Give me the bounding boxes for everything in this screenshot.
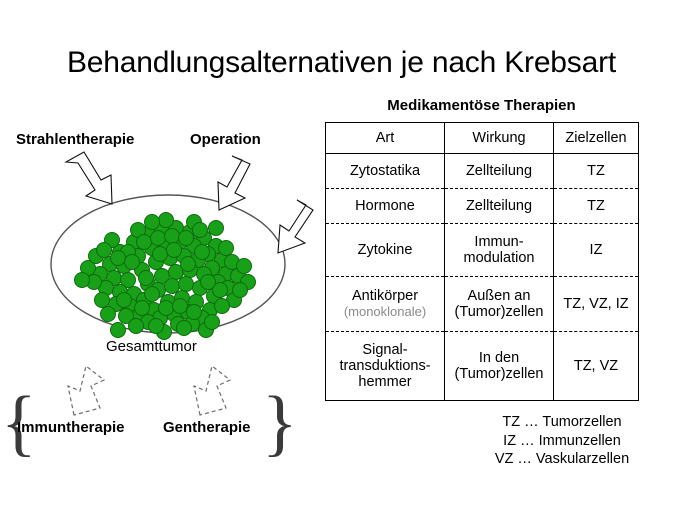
cell-art: Antikörper (monoklonale): [326, 277, 445, 332]
cell-zielzellen: TZ: [554, 154, 639, 189]
column-header-wirkung: Wirkung: [445, 123, 554, 154]
dashed-arrow-immuntherapie: [68, 366, 104, 415]
column-header-zielzellen: Zielzellen: [554, 123, 639, 154]
cell-zielzellen: TZ, VZ, IZ: [554, 277, 639, 332]
therapy-arrows: [0, 90, 320, 430]
cell-art: Zytokine: [326, 224, 445, 277]
table-row: Hormone Zellteilung TZ: [326, 189, 639, 224]
cell-wirkung-line2: (Tumor)zellen: [447, 366, 551, 382]
cell-wirkung: Zellteilung: [445, 189, 554, 224]
cell-art-main: Antikörper: [328, 288, 442, 304]
medication-therapy-table: Art Wirkung Zielzellen Zytostatika Zellt…: [325, 122, 639, 401]
cell-art-main: Signal- transduktions- hemmer: [328, 342, 442, 391]
cell-art: Hormone: [326, 189, 445, 224]
cell-wirkung-line1: Zellteilung: [447, 163, 551, 179]
cell-wirkung: Zellteilung: [445, 154, 554, 189]
cell-zielzellen: TZ: [554, 189, 639, 224]
cell-zielzellen: IZ: [554, 224, 639, 277]
table-row: Zytostatika Zellteilung TZ: [326, 154, 639, 189]
cell-wirkung-line2: modulation: [447, 250, 551, 266]
cell-art-main: Hormone: [328, 198, 442, 214]
dashed-arrow-gentherapie: [194, 366, 230, 415]
page-title: Behandlungsalternativen je nach Krebsart: [0, 46, 683, 80]
cell-wirkung-line1: Außen an: [447, 288, 551, 304]
arrows-svg: [0, 90, 320, 430]
solid-arrow-strahlentherapie: [66, 152, 112, 204]
table-heading: Medikamentöse Therapien: [325, 97, 638, 114]
cell-wirkung-line1: In den: [447, 350, 551, 366]
label-gentherapie: Gentherapie: [163, 419, 251, 436]
legend-line-tz: TZ … Tumorzellen: [448, 413, 676, 432]
cell-art-main: Zytokine: [328, 242, 442, 258]
cell-wirkung: Immun- modulation: [445, 224, 554, 277]
cell-wirkung: Außen an (Tumor)zellen: [445, 277, 554, 332]
legend-line-vz: VZ … Vaskularzellen: [448, 450, 676, 469]
cell-art-note: (monoklonale): [328, 305, 442, 320]
cell-art-main: Zytostatika: [328, 163, 442, 179]
table-row: Signal- transduktions- hemmer In den (Tu…: [326, 332, 639, 401]
legend-line-iz: IZ … Immunzellen: [448, 432, 676, 451]
solid-arrow-right-side: [278, 200, 313, 253]
table-row: Antikörper (monoklonale) Außen an (Tumor…: [326, 277, 639, 332]
table-header-row: Art Wirkung Zielzellen: [326, 123, 639, 154]
column-header-art: Art: [326, 123, 445, 154]
cell-art: Signal- transduktions- hemmer: [326, 332, 445, 401]
cell-zielzellen: TZ, VZ: [554, 332, 639, 401]
cell-wirkung-line2: (Tumor)zellen: [447, 304, 551, 320]
abbreviation-legend: TZ … Tumorzellen IZ … Immunzellen VZ … V…: [448, 413, 676, 469]
cell-wirkung: In den (Tumor)zellen: [445, 332, 554, 401]
table-row: Zytokine Immun- modulation IZ: [326, 224, 639, 277]
brace-right: }: [262, 386, 298, 460]
label-immuntherapie: Immuntherapie: [17, 419, 125, 436]
cell-wirkung-line1: Zellteilung: [447, 198, 551, 214]
cell-art: Zytostatika: [326, 154, 445, 189]
solid-arrow-operation: [218, 156, 250, 210]
cell-wirkung-line1: Immun-: [447, 234, 551, 250]
